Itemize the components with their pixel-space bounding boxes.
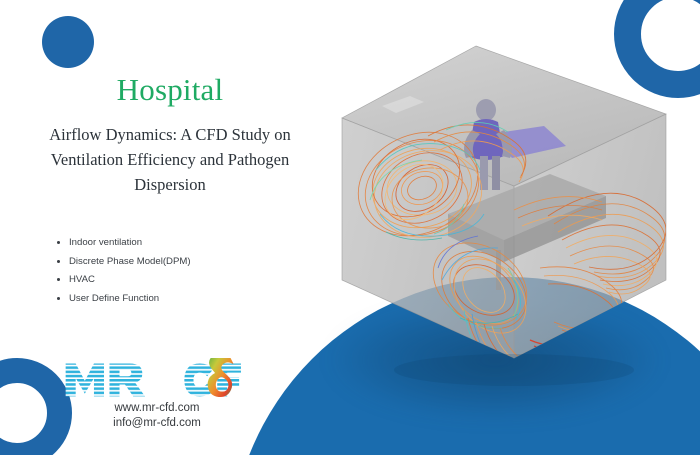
list-item: Discrete Phase Model(DPM) [55, 257, 191, 267]
website-link[interactable]: www.mr-cfd.com [62, 401, 252, 416]
contact-info: www.mr-cfd.com info@mr-cfd.com [62, 401, 252, 430]
list-item: HVAC [55, 275, 191, 285]
top-left-dot-decoration [42, 16, 94, 68]
list-item: User Define Function [55, 294, 191, 304]
mr-cfd-logo-icon [62, 358, 245, 400]
email-link[interactable]: info@mr-cfd.com [62, 416, 252, 431]
brand-logo-block: www.mr-cfd.com info@mr-cfd.com [62, 358, 252, 430]
cfd-visualization-figure [318, 18, 690, 390]
page-title: Hospital [10, 72, 330, 108]
title-block: Hospital Airflow Dynamics: A CFD Study o… [10, 72, 330, 197]
topic-bullet-list: Indoor ventilation Discrete Phase Model(… [55, 238, 191, 312]
slide-canvas: Hospital Airflow Dynamics: A CFD Study o… [0, 0, 700, 455]
page-subtitle: Airflow Dynamics: A CFD Study on Ventila… [10, 122, 330, 197]
list-item: Indoor ventilation [55, 238, 191, 248]
